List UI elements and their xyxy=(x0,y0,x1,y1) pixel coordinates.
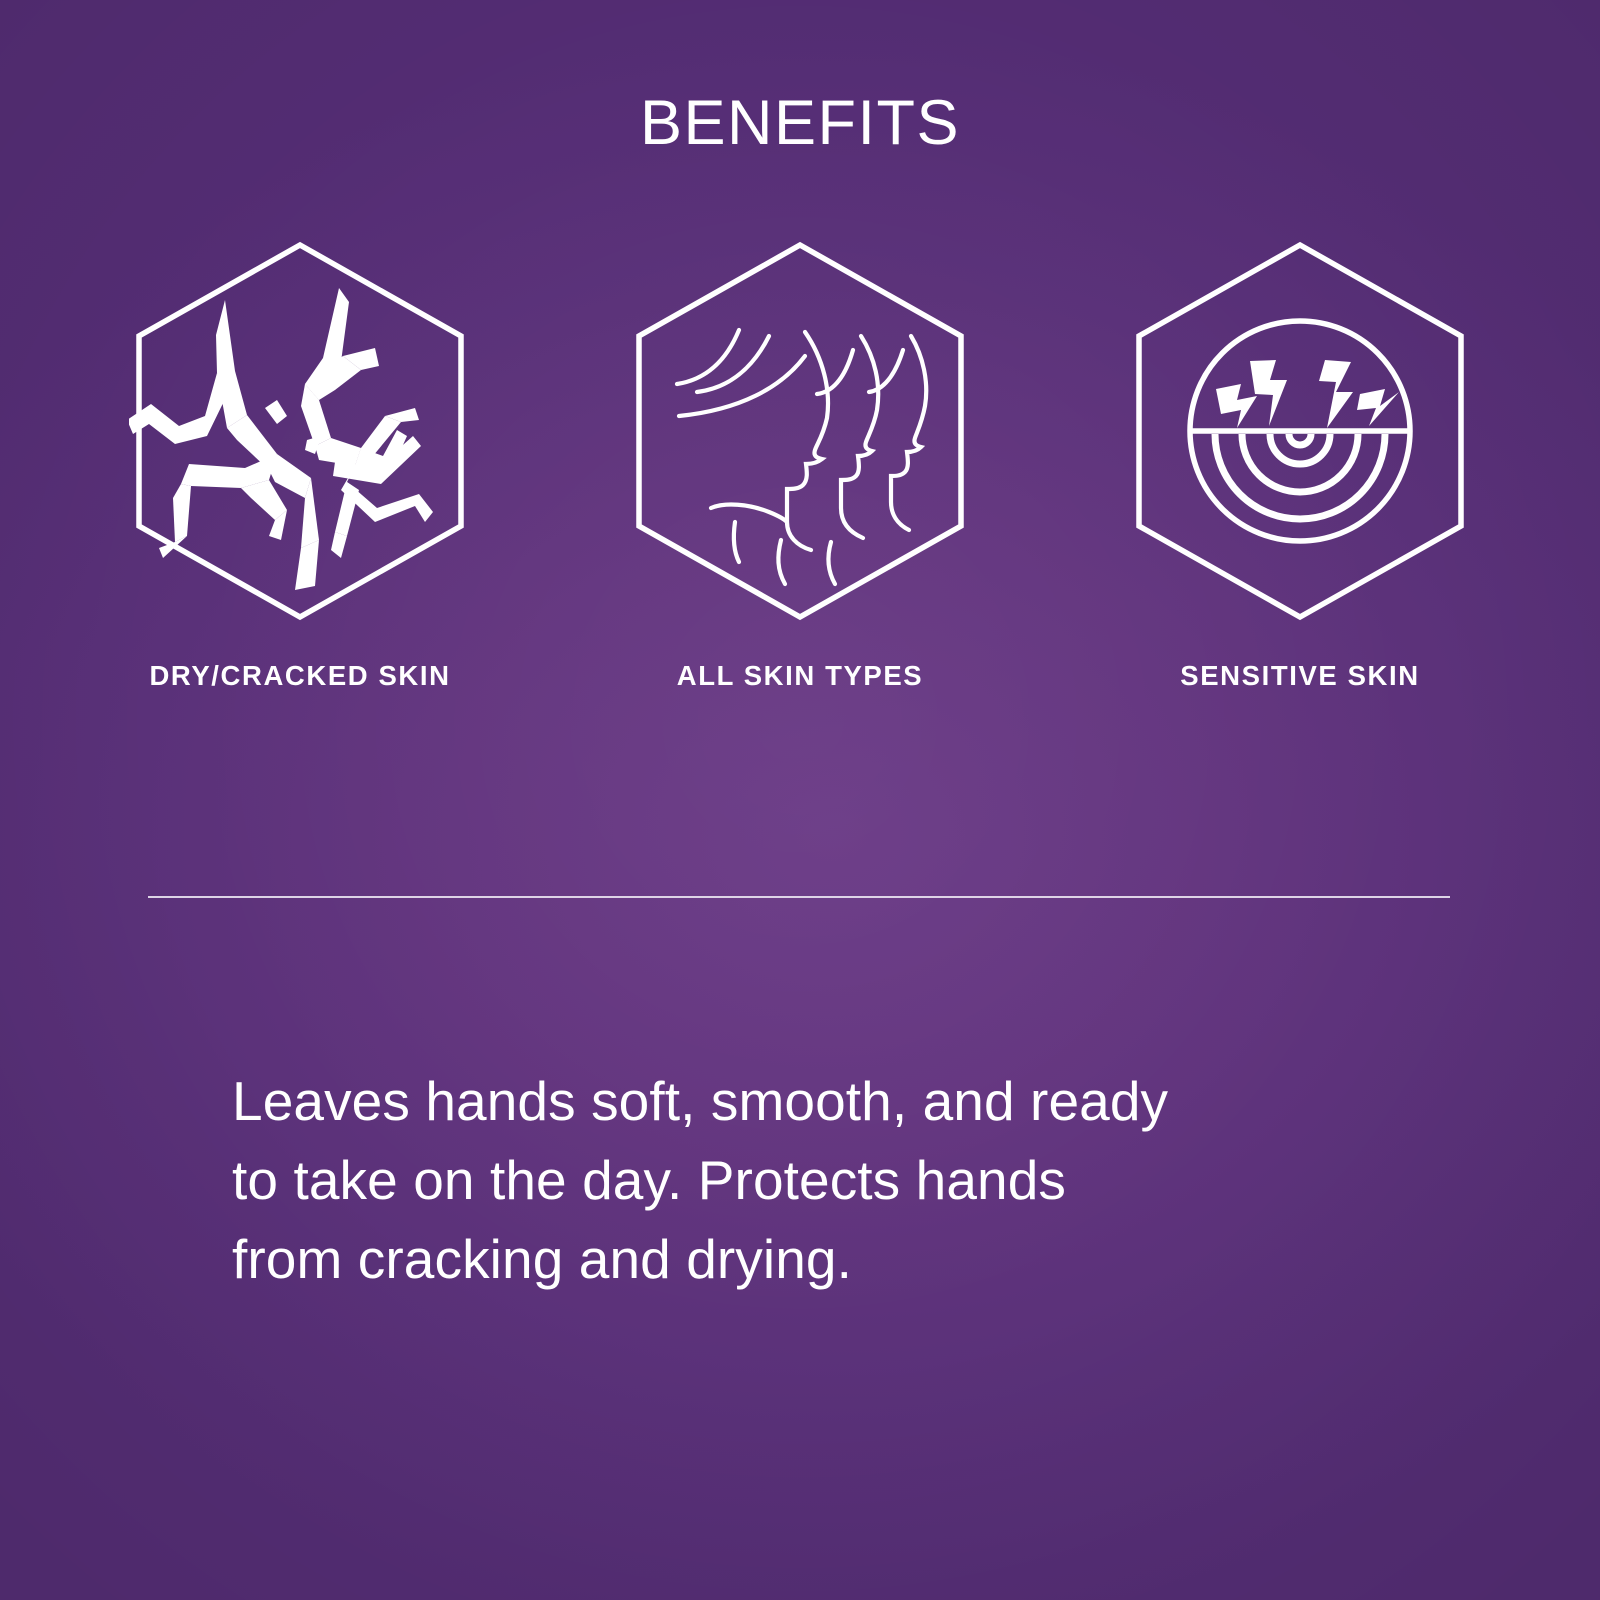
benefit-item-sensitive-skin: SENSITIVE SKIN xyxy=(1090,240,1510,692)
benefits-list: DRY/CRACKED SKIN xyxy=(90,240,1510,692)
description-text: Leaves hands soft, smooth, and ready to … xyxy=(232,1062,1292,1299)
benefit-item-dry-cracked-skin: DRY/CRACKED SKIN xyxy=(90,240,510,692)
benefit-item-all-skin-types: ALL SKIN TYPES xyxy=(590,240,1010,692)
three-face-profiles-hexagon-icon xyxy=(629,240,971,622)
benefit-label: DRY/CRACKED SKIN xyxy=(149,660,450,692)
benefit-label: SENSITIVE SKIN xyxy=(1180,660,1419,692)
description-line-1: Leaves hands soft, smooth, and ready xyxy=(232,1062,1292,1141)
benefit-label: ALL SKIN TYPES xyxy=(677,660,924,692)
section-divider xyxy=(148,896,1450,898)
page-title: BENEFITS xyxy=(0,92,1600,155)
description-line-3: from cracking and drying. xyxy=(232,1220,1292,1299)
sensitive-skin-radiating-hexagon-icon xyxy=(1129,240,1471,622)
description-line-2: to take on the day. Protects hands xyxy=(232,1141,1292,1220)
cracked-skin-hexagon-icon xyxy=(129,240,471,622)
benefits-panel: BENEFITS xyxy=(0,0,1600,1600)
